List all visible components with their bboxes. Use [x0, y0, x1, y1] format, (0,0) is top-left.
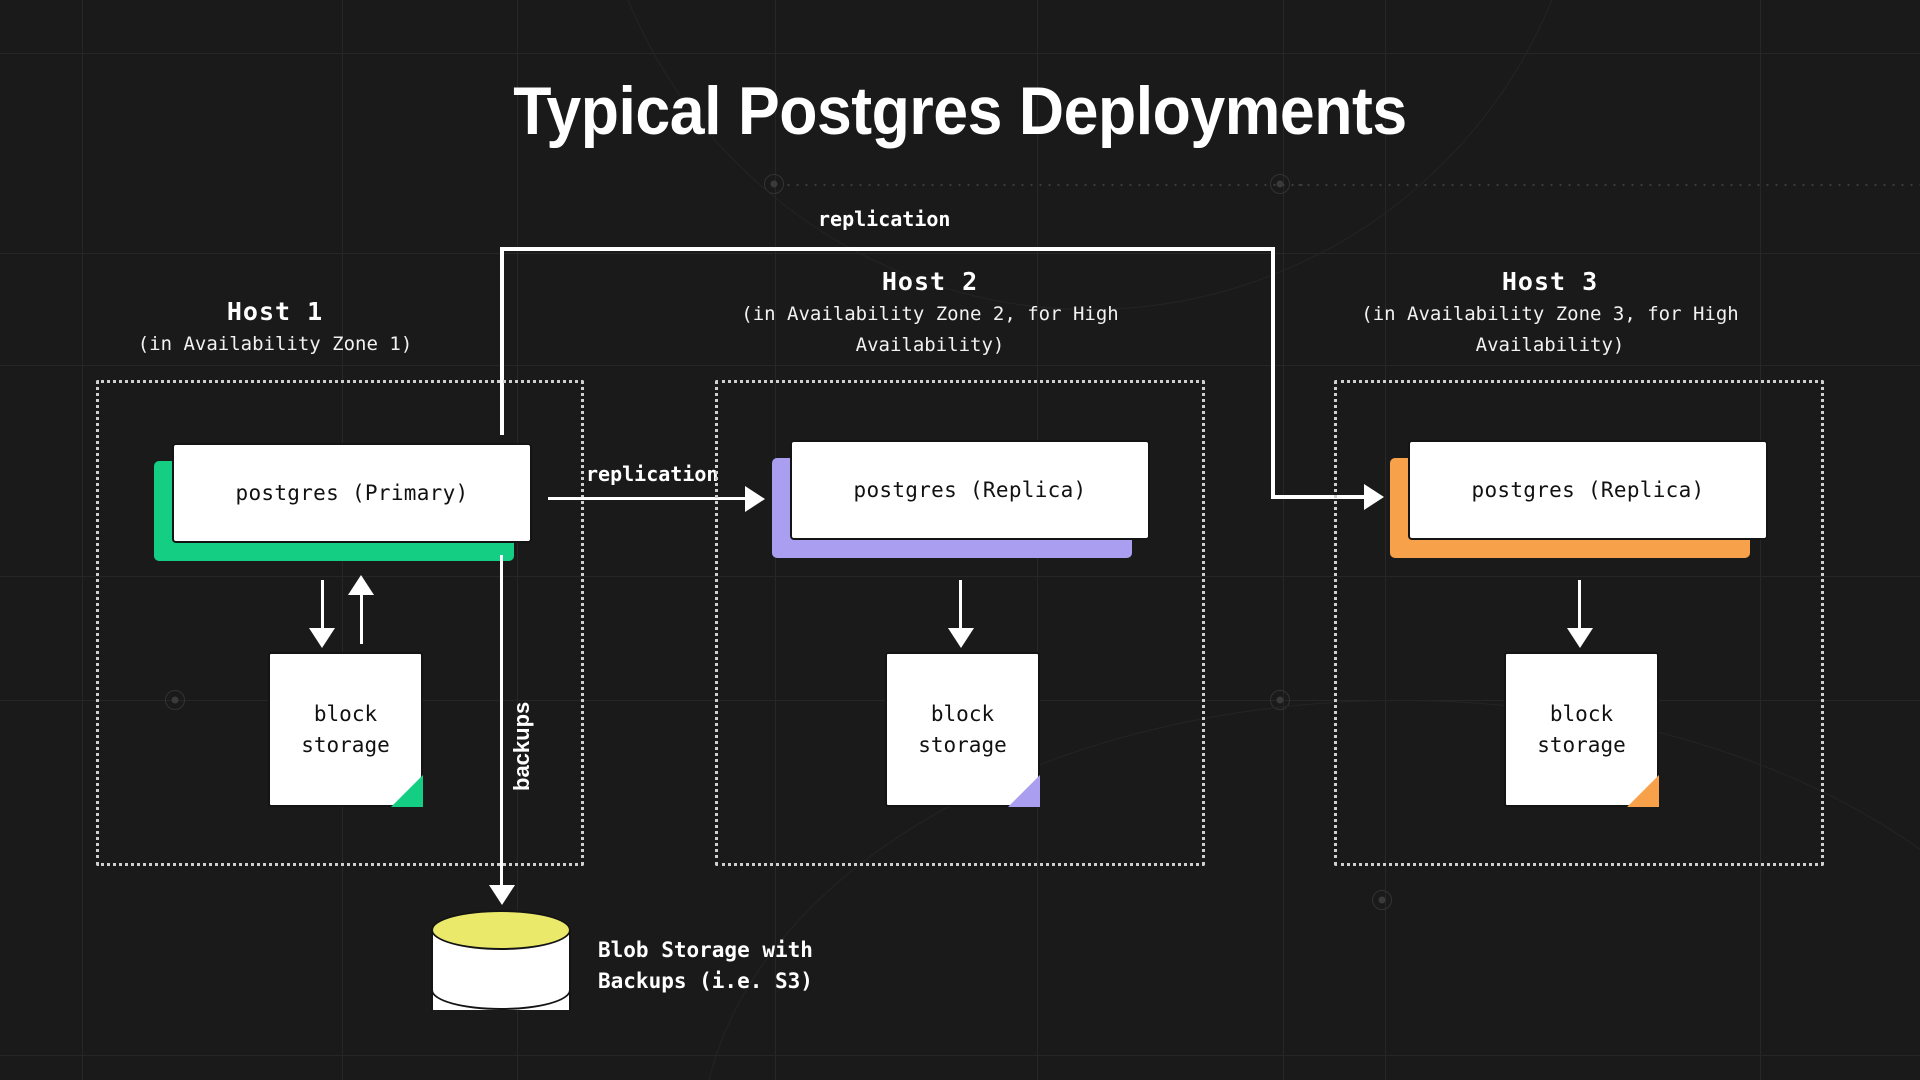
- host-2-block-storage[interactable]: block storage: [885, 652, 1040, 807]
- host-2-storage-line: [959, 580, 962, 632]
- host-3-label: Host 3 (in Availability Zone 3, for High…: [1350, 265, 1750, 361]
- host-3-postgres-node[interactable]: postgres (Replica): [1408, 440, 1768, 540]
- host-3-storage-arrowhead: [1567, 628, 1593, 648]
- cylinder-bottom: [431, 970, 571, 1010]
- host-1-postgres-node[interactable]: postgres (Primary): [172, 443, 532, 543]
- host-3-storage-line: [1578, 580, 1581, 632]
- host-1-label: Host 1 (in Availability Zone 1): [75, 295, 475, 360]
- cylinder-top: [431, 910, 571, 950]
- host-3-subtitle: (in Availability Zone 3, for High Availa…: [1350, 299, 1750, 361]
- replication-top-label: replication: [818, 207, 950, 231]
- host-1-write-arrowhead: [309, 628, 335, 648]
- replication-top-horizontal-segment: [500, 247, 1275, 251]
- host-2-subtitle: (in Availability Zone 2, for High Availa…: [730, 299, 1130, 361]
- diagram-canvas: Typical Postgres Deployments replication…: [0, 0, 1920, 1080]
- backups-label: backups: [509, 702, 535, 791]
- host-3-postgres-label: postgres (Replica): [1408, 440, 1768, 540]
- host-3-storage-corner-icon: [1627, 775, 1659, 807]
- host-1-write-line: [321, 580, 324, 632]
- blob-storage-caption: Blob Storage with Backups (i.e. S3): [598, 935, 813, 997]
- host-2-storage-arrowhead: [948, 628, 974, 648]
- host-2-label: Host 2 (in Availability Zone 2, for High…: [730, 265, 1130, 361]
- host-3-name: Host 3: [1350, 265, 1750, 299]
- blob-storage-cylinder[interactable]: [431, 910, 571, 1010]
- host-1-postgres-label: postgres (Primary): [172, 443, 532, 543]
- host-2-postgres-node[interactable]: postgres (Replica): [790, 440, 1150, 540]
- host-1-storage-corner-icon: [391, 775, 423, 807]
- backups-line: [500, 555, 503, 890]
- replication-top-right-segment: [1271, 247, 1275, 499]
- host-1-name: Host 1: [75, 295, 475, 329]
- host-1-subtitle: (in Availability Zone 1): [75, 329, 475, 360]
- backups-arrowhead: [489, 885, 515, 905]
- host-2-postgres-label: postgres (Replica): [790, 440, 1150, 540]
- page-title: Typical Postgres Deployments: [77, 72, 1843, 150]
- host-1-block-storage[interactable]: block storage: [268, 652, 423, 807]
- host-1-read-arrowhead: [348, 575, 374, 595]
- host-3-block-storage[interactable]: block storage: [1504, 652, 1659, 807]
- host-1-read-line: [360, 592, 363, 644]
- host-2-storage-corner-icon: [1008, 775, 1040, 807]
- replication-mid-label: replication: [586, 462, 718, 486]
- host-2-name: Host 2: [730, 265, 1130, 299]
